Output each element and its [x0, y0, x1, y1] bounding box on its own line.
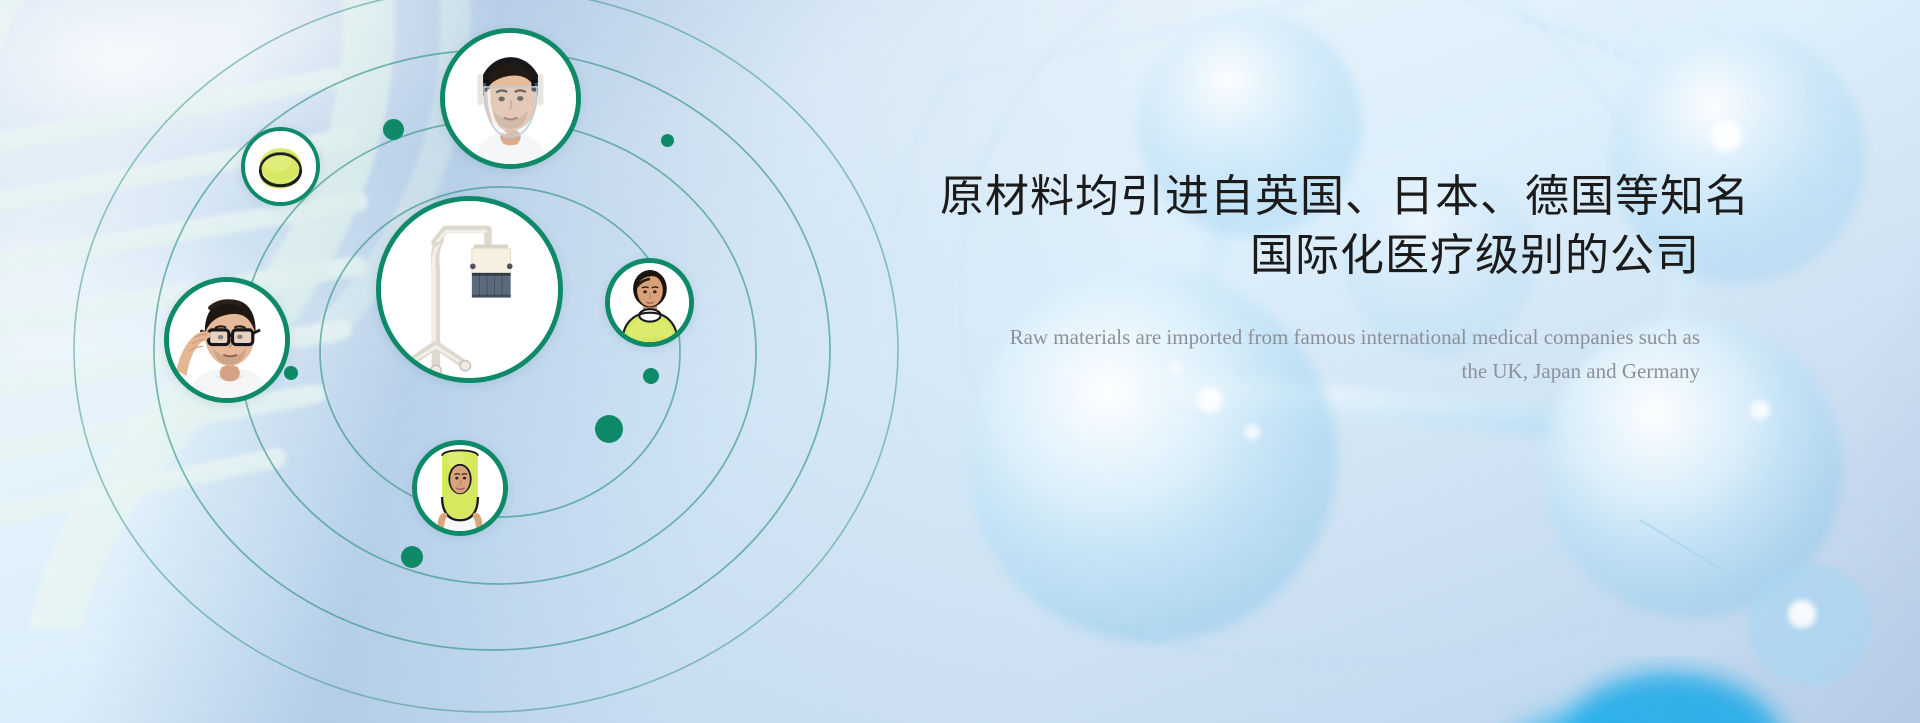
face-shield-man-art	[445, 33, 576, 164]
accent-dot	[383, 119, 404, 140]
subtitle-line-1: Raw materials are imported from famous i…	[940, 320, 1700, 354]
headline-line-1: 原材料均引进自英国、日本、德国等知名	[940, 168, 1700, 225]
bubble-hood-woman[interactable]	[412, 440, 508, 536]
yellow-cap-art	[245, 131, 316, 202]
glasses-man-art	[169, 282, 285, 398]
bubble-face-shield-man[interactable]	[440, 28, 581, 169]
bubble-glasses-man[interactable]	[164, 277, 290, 403]
bubble-mobile-barrier[interactable]	[376, 196, 563, 383]
bubble-thyroid-collar-woman[interactable]	[605, 258, 694, 347]
accent-dot	[401, 546, 423, 568]
accent-dot	[595, 415, 623, 443]
headline-line-2: 国际化医疗级别的公司	[940, 227, 1700, 284]
hero-banner: 原材料均引进自英国、日本、德国等知名 国际化医疗级别的公司 Raw materi…	[0, 0, 1920, 723]
copy-block: 原材料均引进自英国、日本、德国等知名 国际化医疗级别的公司 Raw materi…	[940, 168, 1700, 388]
subtitle-line-2: the UK, Japan and Germany	[940, 354, 1700, 388]
accent-dot	[284, 366, 298, 380]
accent-dot	[661, 134, 674, 147]
bubble-yellow-cap[interactable]	[241, 127, 320, 206]
subtitle-block: Raw materials are imported from famous i…	[940, 320, 1700, 388]
accent-dot	[643, 368, 659, 384]
mobile-barrier-art	[381, 201, 558, 378]
hood-woman-art	[417, 445, 503, 531]
thyroid-collar-woman-art	[610, 263, 689, 342]
